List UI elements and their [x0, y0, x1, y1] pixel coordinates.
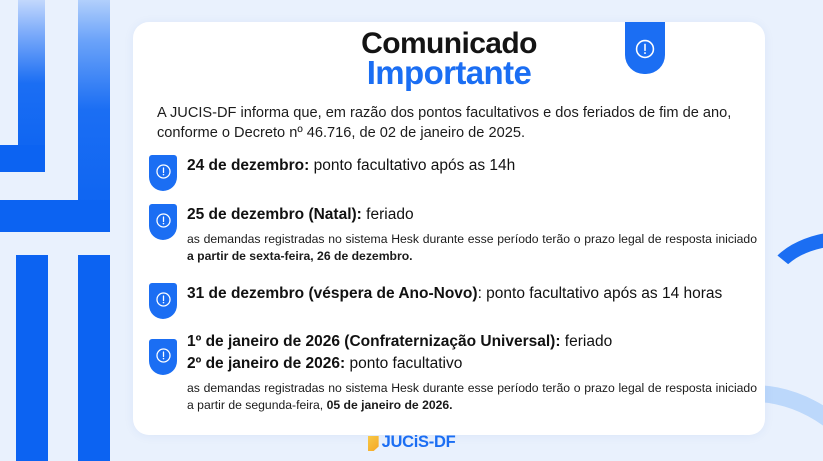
page-title-secondary: Importante — [133, 56, 765, 89]
left-decoration-double-j-icon — [0, 0, 135, 461]
list-item-headline-secondary: 2º de janeiro de 2026: ponto facultativo — [187, 353, 765, 374]
list-item: 31 de dezembro (véspera de Ano-Novo): po… — [133, 283, 765, 304]
announcement-card: Comunicado Importante A JUCIS-DF informa… — [133, 22, 765, 435]
list-item-date: 31 de dezembro (véspera de Ano-Novo) — [187, 285, 478, 302]
jucis-df-logo: JUCiS-DF — [368, 433, 456, 452]
list-item-detail-secondary: ponto facultativo — [345, 355, 462, 372]
list-item-headline: 24 de dezembro: ponto facultativo após a… — [187, 155, 765, 176]
list-item-headline: 25 de dezembro (Natal): feriado — [187, 204, 765, 225]
list-item-date-secondary: 2º de janeiro de 2026: — [187, 355, 345, 372]
note-text: as demandas registradas no sistema Hesk … — [187, 232, 757, 246]
jucis-flag-icon — [368, 436, 379, 451]
intro-paragraph: A JUCIS-DF informa que, em razão dos pon… — [145, 103, 765, 143]
list-item-date: 25 de dezembro (Natal): — [187, 206, 362, 223]
list-item-headline: 31 de dezembro (véspera de Ano-Novo): po… — [187, 283, 765, 304]
list-item-headline: 1º de janeiro de 2026 (Confraternização … — [187, 331, 765, 352]
list-item-detail: ponto facultativo após as 14h — [309, 157, 515, 174]
note-emphasis: a partir de sexta-feira, 26 de dezembro. — [187, 249, 413, 263]
title-block: Comunicado Importante — [133, 22, 765, 89]
alert-circle-icon — [149, 283, 177, 319]
footer: JUCiS-DF — [0, 433, 823, 455]
list-item: 25 de dezembro (Natal): feriado as deman… — [133, 204, 765, 264]
list-item-detail: feriado — [560, 333, 612, 350]
logo-text: JUCiS-DF — [382, 433, 456, 452]
list-item-detail: : ponto facultativo após as 14 horas — [478, 285, 723, 302]
logo-text-part3: S-DF — [418, 433, 455, 451]
logo-text-part1: JUC — [382, 433, 414, 451]
list-item: 1º de janeiro de 2026 (Confraternização … — [133, 331, 765, 413]
alert-circle-icon-badge — [625, 22, 665, 74]
list-item-date: 24 de dezembro: — [187, 157, 309, 174]
alert-circle-icon — [634, 38, 656, 65]
note-text: as demandas registradas no sistema Hesk … — [187, 381, 757, 412]
list-item-note: as demandas registradas no sistema Hesk … — [187, 380, 765, 413]
alert-circle-icon — [149, 155, 177, 191]
list-item-note: as demandas registradas no sistema Hesk … — [187, 231, 765, 264]
note-emphasis: 05 de janeiro de 2026. — [327, 398, 453, 412]
announcement-list: 24 de dezembro: ponto facultativo após a… — [133, 155, 765, 413]
list-item: 24 de dezembro: ponto facultativo após a… — [133, 155, 765, 176]
alert-circle-icon — [149, 339, 177, 375]
list-item-date: 1º de janeiro de 2026 (Confraternização … — [187, 333, 560, 350]
alert-circle-icon — [149, 204, 177, 240]
poster-canvas: Comunicado Importante A JUCIS-DF informa… — [0, 0, 823, 461]
list-item-detail: feriado — [362, 206, 414, 223]
